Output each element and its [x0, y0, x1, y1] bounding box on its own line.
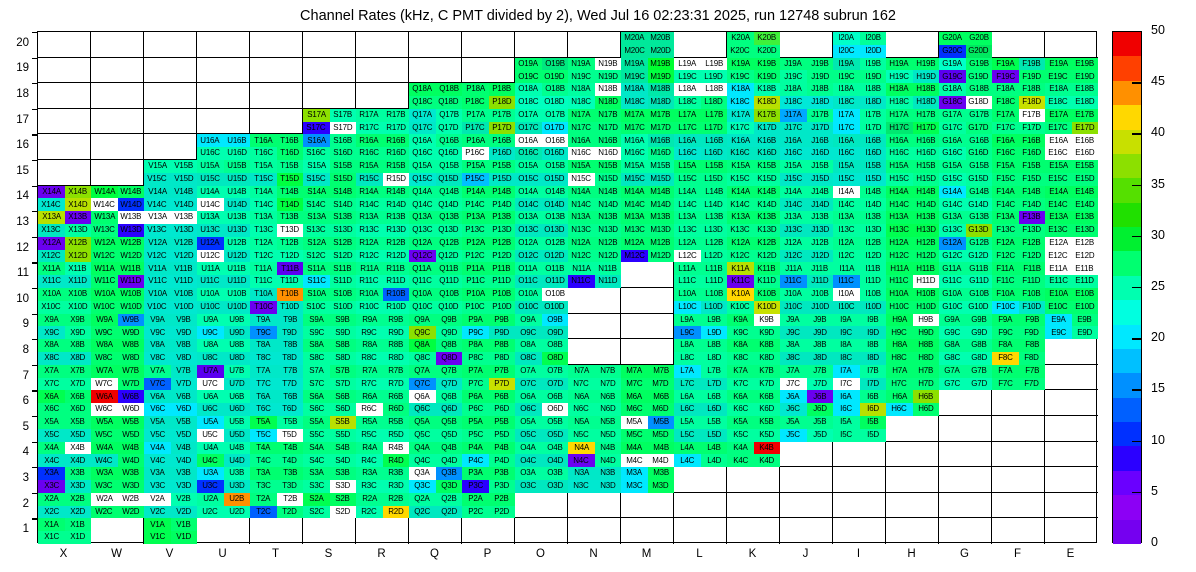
channel-Q16A: Q16A [409, 134, 436, 147]
channel-G8B: G8B [966, 339, 993, 352]
channel-G18A: G18A [939, 83, 966, 96]
channel-O16C: O16C [515, 147, 542, 160]
channel-V7D: V7D [171, 378, 198, 391]
channel-V4A: V4A [144, 442, 171, 455]
channel-R15C: R15C [356, 173, 383, 186]
colorbar-label-0: 0 [1151, 535, 1158, 549]
channel-T15B: T15B [277, 160, 304, 173]
channel-W13A: W13A [91, 211, 118, 224]
channel-O5B: O5B [542, 416, 569, 429]
y-tick-label-14: 14 [16, 190, 29, 202]
colorbar-label-45: 45 [1151, 74, 1165, 88]
channel-P2A: P2A [462, 493, 489, 506]
channel-K12A: K12A [727, 237, 754, 250]
channel-M20A: M20A [621, 32, 648, 45]
channel-X3C: X3C [38, 480, 65, 493]
grid-cell-F4 [992, 442, 1045, 468]
channel-L13D: L13D [701, 224, 728, 237]
channel-F12D: F12D [1019, 250, 1046, 263]
channel-G15A: G15A [939, 160, 966, 173]
channel-G14D: G14D [966, 198, 993, 211]
y-tick [32, 467, 38, 468]
channel-O10A: O10A [515, 288, 542, 301]
channel-M13D: M13D [648, 224, 675, 237]
colorbar-label-10: 10 [1151, 433, 1165, 447]
channel-G9A: G9A [939, 314, 966, 327]
grid-cell-G5 [939, 416, 992, 442]
channel-U3C: U3C [197, 480, 224, 493]
channel-R13A: R13A [356, 211, 383, 224]
channel-G13C: G13C [939, 224, 966, 237]
channel-V13B: V13B [171, 211, 198, 224]
channel-F14D: F14D [1019, 198, 1046, 211]
channel-F13B: F13B [1019, 211, 1046, 224]
channel-N3A: N3A [568, 467, 595, 480]
channel-I12B: I12B [860, 237, 887, 250]
channel-L6D: L6D [701, 403, 728, 416]
colorbar-label-50: 50 [1151, 23, 1165, 37]
channel-I20D: I20D [860, 45, 887, 58]
channel-Q10D: Q10D [436, 301, 463, 314]
channel-F17D: F17D [1019, 122, 1046, 135]
channel-W12D: W12D [118, 250, 145, 263]
channel-W6B: W6B [118, 390, 145, 403]
channel-V15A: V15A [144, 160, 171, 173]
channel-O13C: O13C [515, 224, 542, 237]
y-tick [32, 32, 38, 33]
grid-cell-W1 [91, 518, 144, 544]
channel-H13C: H13C [886, 224, 913, 237]
channel-Q11C: Q11C [409, 275, 436, 288]
grid-cell-U20 [197, 32, 250, 58]
channel-M19B: M19B [648, 58, 675, 71]
grid-cell-L1 [674, 518, 727, 544]
channel-W6C: W6C [91, 403, 118, 416]
channel-E12C: E12C [1045, 250, 1072, 263]
channel-R4B: R4B [383, 442, 410, 455]
channel-M18A: M18A [621, 83, 648, 96]
x-tick-label-N: N [567, 548, 620, 560]
channel-S14C: S14C [303, 198, 330, 211]
grid-cell-H5 [886, 416, 939, 442]
channel-M18B: M18B [648, 83, 675, 96]
channel-U11A: U11A [197, 262, 224, 275]
channel-Q18C: Q18C [409, 96, 436, 109]
channel-M15A: M15A [621, 160, 648, 173]
channel-I17A: I17A [833, 109, 860, 122]
grid-cell-I2 [833, 493, 886, 519]
channel-U2D: U2D [224, 506, 251, 519]
y-tick-label-4: 4 [23, 446, 29, 458]
channel-Q12D: Q12D [436, 250, 463, 263]
channel-V6B: V6B [171, 390, 198, 403]
channel-O5D: O5D [542, 429, 569, 442]
channel-K8D: K8D [754, 352, 781, 365]
channel-F18D: F18D [1019, 96, 1046, 109]
channel-H8D: H8D [913, 352, 940, 365]
channel-T14A: T14A [250, 186, 277, 199]
channel-T13D: T13D [277, 224, 304, 237]
grid-cell-M11 [621, 262, 674, 288]
channel-I9A: I9A [833, 314, 860, 327]
grid-cell-Q1 [409, 518, 462, 544]
channel-U12C: U12C [197, 250, 224, 263]
channel-N17D: N17D [595, 122, 622, 135]
channel-U15B: U15B [224, 160, 251, 173]
grid-cell-P20 [462, 32, 515, 58]
channel-P15D: P15D [489, 173, 516, 186]
channel-H8A: H8A [886, 339, 913, 352]
channel-O10B: O10B [542, 288, 569, 301]
channel-I18B: I18B [860, 83, 887, 96]
colorbar-band [1113, 325, 1141, 349]
channel-K9A: K9A [727, 314, 754, 327]
channel-L5A: L5A [674, 416, 701, 429]
channel-G9B: G9B [966, 314, 993, 327]
channel-T10C: T10C [250, 301, 277, 314]
channel-H17C: H17C [886, 122, 913, 135]
channel-X10C: X10C [38, 301, 65, 314]
channel-H19D: H19D [913, 70, 940, 83]
channel-X12C: X12C [38, 250, 65, 263]
channel-V4B: V4B [171, 442, 198, 455]
channel-Q3B: Q3B [436, 467, 463, 480]
channel-P17D: P17D [489, 122, 516, 135]
channel-I17B: I17B [860, 109, 887, 122]
channel-S2C: S2C [303, 506, 330, 519]
channel-X7B: X7B [65, 365, 92, 378]
channel-X12D: X12D [65, 250, 92, 263]
channel-X12A: X12A [38, 237, 65, 250]
channel-J13B: J13B [807, 211, 834, 224]
channel-T11A: T11A [250, 262, 277, 275]
grid-cell-P1 [462, 518, 515, 544]
channel-U15D: U15D [224, 173, 251, 186]
channel-N13D: N13D [595, 224, 622, 237]
channel-W12C: W12C [91, 250, 118, 263]
channel-O19A: O19A [515, 58, 542, 71]
channel-T16A: T16A [250, 134, 277, 147]
channel-M12A: M12A [621, 237, 648, 250]
channel-S10D: S10D [330, 301, 357, 314]
channel-K5D: K5D [754, 429, 781, 442]
channel-T7A: T7A [250, 365, 277, 378]
channel-S17A: S17A [303, 109, 330, 122]
channel-S9D: S9D [330, 326, 357, 339]
channel-S16C: S16C [303, 147, 330, 160]
channel-W9D: W9D [118, 326, 145, 339]
channel-H12D: H12D [913, 250, 940, 263]
channel-T4D: T4D [277, 454, 304, 467]
channel-G20D: G20D [966, 45, 993, 58]
channel-U6D: U6D [224, 403, 251, 416]
channel-M16A: M16A [621, 134, 648, 147]
channel-I8C: I8C [833, 352, 860, 365]
channel-H13D: H13D [913, 224, 940, 237]
channel-Q7D: Q7D [436, 378, 463, 391]
channel-Q8B: Q8B [436, 339, 463, 352]
channel-M16D: M16D [648, 147, 675, 160]
colorbar-band [1113, 105, 1141, 129]
channel-Q18D: Q18D [436, 96, 463, 109]
channel-K6A: K6A [727, 390, 754, 403]
channel-J15C: J15C [780, 173, 807, 186]
channel-I6C: I6C [833, 403, 860, 416]
channel-Q15D: Q15D [436, 173, 463, 186]
channel-I16A: I16A [833, 134, 860, 147]
channel-S10B: S10B [330, 288, 357, 301]
channel-O7A: O7A [515, 365, 542, 378]
channel-Q6D: Q6D [436, 403, 463, 416]
channel-W3A: W3A [91, 467, 118, 480]
channel-O11C: O11C [515, 275, 542, 288]
y-tick [32, 339, 38, 340]
page-title: Channel Rates (kHz, C PMT divided by 2),… [0, 8, 1196, 24]
channel-K8A: K8A [727, 339, 754, 352]
channel-M5C: M5C [621, 429, 648, 442]
channel-F15D: F15D [1019, 173, 1046, 186]
channel-Q3D: Q3D [436, 480, 463, 493]
channel-V3A: V3A [144, 467, 171, 480]
channel-T6B: T6B [277, 390, 304, 403]
channel-I20C: I20C [833, 45, 860, 58]
grid-cell-R20 [356, 32, 409, 58]
channel-T14B: T14B [277, 186, 304, 199]
channel-X7C: X7C [38, 378, 65, 391]
channel-P10B: P10B [489, 288, 516, 301]
channel-J8D: J8D [807, 352, 834, 365]
channel-E9D: E9D [1072, 326, 1099, 339]
channel-P12D: P12D [489, 250, 516, 263]
channel-P10A: P10A [462, 288, 489, 301]
channel-P15B: P15B [489, 160, 516, 173]
channel-O4A: O4A [515, 442, 542, 455]
channel-R5D: R5D [383, 429, 410, 442]
grid-cell-X15 [38, 160, 91, 186]
channel-L12B: L12B [701, 237, 728, 250]
x-tick-label-O: O [514, 548, 567, 560]
channel-P17B: P17B [489, 109, 516, 122]
channel-T4C: T4C [250, 454, 277, 467]
channel-Q13B: Q13B [436, 211, 463, 224]
y-tick-label-1: 1 [23, 523, 29, 535]
channel-F11A: F11A [992, 262, 1019, 275]
channel-O11B: O11B [542, 262, 569, 275]
channel-P13D: P13D [489, 224, 516, 237]
channel-V6D: V6D [171, 403, 198, 416]
channel-G20A: G20A [939, 32, 966, 45]
channel-V11A: V11A [144, 262, 171, 275]
channel-R11D: R11D [383, 275, 410, 288]
channel-R8A: R8A [356, 339, 383, 352]
channel-L19D: L19D [701, 70, 728, 83]
channel-N6B: N6B [595, 390, 622, 403]
grid-cell-J3 [780, 467, 833, 493]
channel-F12A: F12A [992, 237, 1019, 250]
channel-H7D: H7D [913, 378, 940, 391]
channel-L15D: L15D [701, 173, 728, 186]
channel-O15A: O15A [515, 160, 542, 173]
channel-F13C: F13C [992, 224, 1019, 237]
channel-K18B: K18B [754, 83, 781, 96]
channel-E12B: E12B [1072, 237, 1099, 250]
grid-cell-X17 [38, 109, 91, 135]
channel-W2D: W2D [118, 506, 145, 519]
channel-T10D: T10D [277, 301, 304, 314]
channel-H17A: H17A [886, 109, 913, 122]
grid-cell-U19 [197, 58, 250, 84]
x-tick-label-S: S [302, 548, 355, 560]
channel-H10D: H10D [913, 301, 940, 314]
channel-Q9A: Q9A [409, 314, 436, 327]
grid-cell-S1 [303, 518, 356, 544]
channel-Q10B: Q10B [436, 288, 463, 301]
channel-E16A: E16A [1045, 134, 1072, 147]
channel-Q4D: Q4D [436, 454, 463, 467]
channel-E17B: E17B [1072, 109, 1099, 122]
grid-cell-M2 [621, 493, 674, 519]
channel-J10C: J10C [780, 301, 807, 314]
channel-W7D: W7D [118, 378, 145, 391]
channel-F7B: F7B [1019, 365, 1046, 378]
channel-N13C: N13C [568, 224, 595, 237]
channel-F15B: F15B [1019, 160, 1046, 173]
channel-O4C: O4C [515, 454, 542, 467]
channel-H14D: H14D [913, 198, 940, 211]
channel-W10B: W10B [118, 288, 145, 301]
channel-I13B: I13B [860, 211, 887, 224]
channel-M4D: M4D [648, 454, 675, 467]
channel-W7C: W7C [91, 378, 118, 391]
channel-P9C: P9C [462, 326, 489, 339]
channel-L9D: L9D [701, 326, 728, 339]
channel-T6D: T6D [277, 403, 304, 416]
channel-O11A: O11A [515, 262, 542, 275]
channel-L18C: L18C [674, 96, 701, 109]
channel-J5A: J5A [780, 416, 807, 429]
channel-R15A: R15A [356, 160, 383, 173]
channel-Q17A: Q17A [409, 109, 436, 122]
channel-X10B: X10B [65, 288, 92, 301]
channel-J5D: J5D [807, 429, 834, 442]
channel-H6A: H6A [886, 390, 913, 403]
channel-N11C: N11C [568, 275, 595, 288]
channel-J10B: J10B [807, 288, 834, 301]
channel-V11D: V11D [171, 275, 198, 288]
channel-I20A: I20A [833, 32, 860, 45]
channel-E15D: E15D [1072, 173, 1099, 186]
y-tick-label-7: 7 [23, 370, 29, 382]
channel-P5D: P5D [489, 429, 516, 442]
channel-S17D: S17D [330, 122, 357, 135]
channel-V8B: V8B [171, 339, 198, 352]
channel-L14A: L14A [674, 186, 701, 199]
channel-F8A: F8A [992, 339, 1019, 352]
channel-S16D: S16D [330, 147, 357, 160]
channel-N5A: N5A [568, 416, 595, 429]
channel-L12D: L12D [701, 250, 728, 263]
grid-cell-N8 [568, 339, 621, 365]
channel-X8C: X8C [38, 352, 65, 365]
channel-M4C: M4C [621, 454, 648, 467]
channel-V9D: V9D [171, 326, 198, 339]
channel-I9D: I9D [860, 326, 887, 339]
channel-X3D: X3D [65, 480, 92, 493]
channel-H6B: H6B [913, 390, 940, 403]
channel-N15B: N15B [595, 160, 622, 173]
channel-Q7B: Q7B [436, 365, 463, 378]
channel-P16A: P16A [462, 134, 489, 147]
channel-V9C: V9C [144, 326, 171, 339]
channel-X6D: X6D [65, 403, 92, 416]
channel-M7A: M7A [621, 365, 648, 378]
channel-P2B: P2B [489, 493, 516, 506]
plot-area: M20AM20BM20CM20DK20AK20BK20CK20DI20AI20B… [37, 31, 1097, 543]
channel-O12A: O12A [515, 237, 542, 250]
channel-J11C: J11C [780, 275, 807, 288]
channel-U9D: U9D [224, 326, 251, 339]
channel-H17B: H17B [913, 109, 940, 122]
channel-N4C: N4C [568, 454, 595, 467]
channel-H19B: H19B [913, 58, 940, 71]
channel-W4C: W4C [91, 454, 118, 467]
channel-K15A: K15A [727, 160, 754, 173]
channel-S8C: S8C [303, 352, 330, 365]
channel-L8A: L8A [674, 339, 701, 352]
channel-J14A: J14A [780, 186, 807, 199]
channel-Q13C: Q13C [409, 224, 436, 237]
channel-J18D: J18D [807, 96, 834, 109]
channel-N4B: N4B [595, 442, 622, 455]
channel-P5B: P5B [489, 416, 516, 429]
channel-O9D: O9D [542, 326, 569, 339]
channel-K4B: K4B [754, 442, 781, 455]
channel-O8A: O8A [515, 339, 542, 352]
channel-S12C: S12C [303, 250, 330, 263]
channel-G10D: G10D [966, 301, 993, 314]
channel-L19C: L19C [674, 70, 701, 83]
channel-H18C: H18C [886, 96, 913, 109]
channel-E14B: E14B [1072, 186, 1099, 199]
channel-T2D: T2D [277, 506, 304, 519]
channel-H14C: H14C [886, 198, 913, 211]
channel-K4C: K4C [727, 454, 754, 467]
channel-X14A: X14A [38, 186, 65, 199]
channel-P11D: P11D [489, 275, 516, 288]
channel-M3C: M3C [621, 480, 648, 493]
channel-M12B: M12B [648, 237, 675, 250]
channel-S17C: S17C [303, 122, 330, 135]
channel-S6A: S6A [303, 390, 330, 403]
channel-M14A: M14A [621, 186, 648, 199]
grid-cell-Q20 [409, 32, 462, 58]
channel-U14B: U14B [224, 186, 251, 199]
channel-T11C: T11C [250, 275, 277, 288]
x-tick-label-U: U [196, 548, 249, 560]
channel-U5C: U5C [197, 429, 224, 442]
channel-K11D: K11D [754, 275, 781, 288]
channel-O19C: O19C [515, 70, 542, 83]
channel-P2C: P2C [462, 506, 489, 519]
grid-cell-E3 [1045, 467, 1098, 493]
channel-H11C: H11C [886, 275, 913, 288]
channel-X4A: X4A [38, 442, 65, 455]
channel-F10B: F10B [1019, 288, 1046, 301]
channel-T4A: T4A [250, 442, 277, 455]
channel-L9C: L9C [674, 326, 701, 339]
grid-cell-M9 [621, 314, 674, 340]
channel-N7C: N7C [568, 378, 595, 391]
